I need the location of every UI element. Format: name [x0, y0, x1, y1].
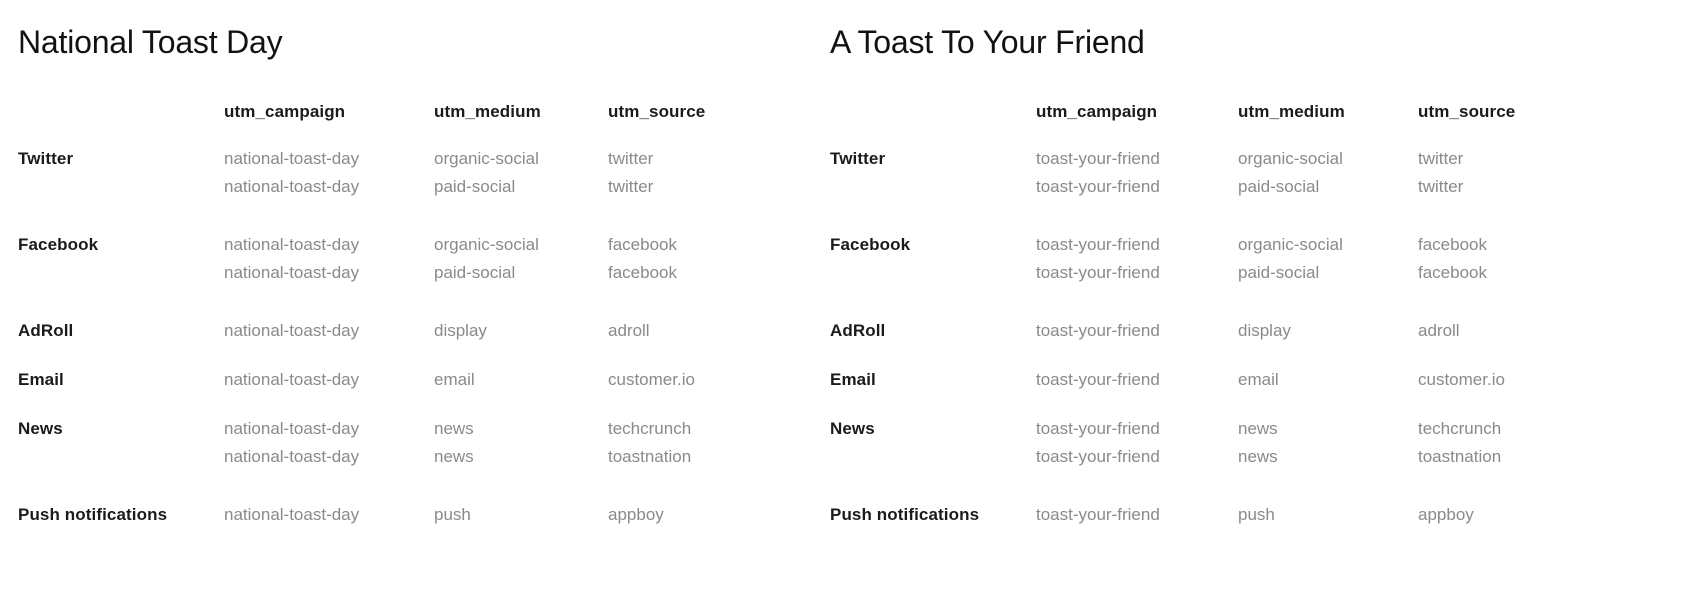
column-header-utm-campaign: utm_campaign: [1036, 98, 1238, 145]
page-title: National Toast Day: [18, 22, 815, 62]
cell-value-text: national-toast-day: [224, 231, 434, 259]
cell-source: twittertwitter: [1418, 145, 1618, 231]
cell-value-text: toast-your-friend: [1036, 366, 1238, 394]
cell-value-text: toastnation: [1418, 443, 1618, 471]
column-header-utm-source: utm_source: [608, 98, 808, 145]
row-label-text: News: [18, 415, 224, 443]
cell-value-text: news: [434, 443, 608, 471]
cell-value-text: national-toast-day: [224, 366, 434, 394]
cell-source: adroll: [608, 317, 808, 366]
column-header-channel: [18, 98, 224, 145]
cell-source: appboy: [608, 501, 808, 529]
cell-campaign: toast-your-friendtoast-your-friend: [1036, 231, 1238, 317]
cell-value-text: twitter: [1418, 145, 1618, 173]
cell-value-text: national-toast-day: [224, 173, 434, 201]
cell-value-text: toast-your-friend: [1036, 501, 1238, 529]
table-row: Twittertoast-your-friendtoast-your-frien…: [830, 145, 1618, 231]
column-header-utm-medium: utm_medium: [1238, 98, 1418, 145]
row-label-twitter: Twitter: [18, 145, 224, 231]
table-row: Push notificationsnational-toast-daypush…: [18, 501, 808, 529]
cell-campaign: toast-your-friend: [1036, 366, 1238, 415]
row-label-adroll: AdRoll: [830, 317, 1036, 366]
cell-value-text: national-toast-day: [224, 145, 434, 173]
table-row: Twitternational-toast-daynational-toast-…: [18, 145, 808, 231]
row-label-text: Push notifications: [18, 501, 224, 529]
cell-value-text: national-toast-day: [224, 317, 434, 345]
cell-medium: email: [434, 366, 608, 415]
cell-value-text: display: [434, 317, 608, 345]
cell-source: facebookfacebook: [1418, 231, 1618, 317]
row-label-text: Twitter: [18, 145, 224, 173]
cell-value-text: customer.io: [608, 366, 808, 394]
cell-value-text: twitter: [608, 173, 808, 201]
cell-campaign: toast-your-friendtoast-your-friend: [1036, 415, 1238, 501]
cell-value-text: facebook: [1418, 231, 1618, 259]
cell-value-text: national-toast-day: [224, 415, 434, 443]
table-row: Emailnational-toast-dayemailcustomer.io: [18, 366, 808, 415]
table-header-row: utm_campaign utm_medium utm_source: [830, 98, 1618, 145]
cell-medium: organic-socialpaid-social: [434, 231, 608, 317]
row-label-facebook: Facebook: [830, 231, 1036, 317]
cell-medium: display: [1238, 317, 1418, 366]
row-label-text: Email: [830, 366, 1036, 394]
cell-value-text: news: [1238, 443, 1418, 471]
cell-medium: organic-socialpaid-social: [434, 145, 608, 231]
cell-value-text: toast-your-friend: [1036, 443, 1238, 471]
cell-value-text: twitter: [608, 145, 808, 173]
cell-campaign: toast-your-friend: [1036, 317, 1238, 366]
cell-medium: display: [434, 317, 608, 366]
cell-value-text: adroll: [608, 317, 808, 345]
cell-campaign: national-toast-day: [224, 501, 434, 529]
row-label-twitter: Twitter: [830, 145, 1036, 231]
cell-source: twittertwitter: [608, 145, 808, 231]
cell-value-text: push: [1238, 501, 1418, 529]
cell-value-text: toast-your-friend: [1036, 145, 1238, 173]
cell-value-text: appboy: [608, 501, 808, 529]
row-label-push-notifications: Push notifications: [18, 501, 224, 529]
cell-value-text: facebook: [608, 259, 808, 287]
column-header-utm-campaign: utm_campaign: [224, 98, 434, 145]
row-label-text: Facebook: [18, 231, 224, 259]
utm-table-right: utm_campaign utm_medium utm_source Twitt…: [830, 98, 1618, 529]
column-header-channel: [830, 98, 1036, 145]
cell-value-text: paid-social: [434, 173, 608, 201]
cell-medium: newsnews: [434, 415, 608, 501]
cell-value-text: organic-social: [434, 145, 608, 173]
cell-value-text: toast-your-friend: [1036, 173, 1238, 201]
table-row: AdRolltoast-your-frienddisplayadroll: [830, 317, 1618, 366]
table-row: Push notificationstoast-your-friendpusha…: [830, 501, 1618, 529]
panel-national-toast-day: National Toast Day utm_campaign utm_medi…: [0, 0, 815, 598]
table-row: Newstoast-your-friendtoast-your-friendne…: [830, 415, 1618, 501]
cell-source: facebookfacebook: [608, 231, 808, 317]
cell-value-text: techcrunch: [1418, 415, 1618, 443]
cell-value-text: email: [434, 366, 608, 394]
cell-medium: push: [1238, 501, 1418, 529]
cell-value-text: toast-your-friend: [1036, 415, 1238, 443]
cell-medium: organic-socialpaid-social: [1238, 145, 1418, 231]
cell-value-text: customer.io: [1418, 366, 1618, 394]
cell-campaign: national-toast-daynational-toast-day: [224, 145, 434, 231]
cell-source: appboy: [1418, 501, 1618, 529]
cell-campaign: toast-your-friend: [1036, 501, 1238, 529]
cell-source: techcrunchtoastnation: [1418, 415, 1618, 501]
cell-value-text: paid-social: [434, 259, 608, 287]
cell-value-text: organic-social: [1238, 145, 1418, 173]
row-label-text: Push notifications: [830, 501, 1036, 529]
row-label-text: AdRoll: [18, 317, 224, 345]
cell-value-text: toastnation: [608, 443, 808, 471]
cell-source: customer.io: [1418, 366, 1618, 415]
row-label-email: Email: [18, 366, 224, 415]
utm-tables-board: National Toast Day utm_campaign utm_medi…: [0, 0, 1682, 598]
cell-medium: email: [1238, 366, 1418, 415]
cell-value-text: toast-your-friend: [1036, 259, 1238, 287]
table-header-row: utm_campaign utm_medium utm_source: [18, 98, 808, 145]
cell-value-text: facebook: [608, 231, 808, 259]
cell-source: techcrunchtoastnation: [608, 415, 808, 501]
table-body: Twittertoast-your-friendtoast-your-frien…: [830, 145, 1618, 529]
cell-value-text: techcrunch: [608, 415, 808, 443]
cell-campaign: national-toast-day: [224, 317, 434, 366]
row-label-text: News: [830, 415, 1036, 443]
cell-campaign: national-toast-daynational-toast-day: [224, 415, 434, 501]
cell-value-text: facebook: [1418, 259, 1618, 287]
row-label-text: AdRoll: [830, 317, 1036, 345]
cell-value-text: toast-your-friend: [1036, 317, 1238, 345]
table-header: utm_campaign utm_medium utm_source: [830, 98, 1618, 145]
cell-value-text: push: [434, 501, 608, 529]
row-label-text: Facebook: [830, 231, 1036, 259]
table-row: AdRollnational-toast-daydisplayadroll: [18, 317, 808, 366]
column-header-utm-medium: utm_medium: [434, 98, 608, 145]
cell-value-text: organic-social: [434, 231, 608, 259]
cell-value-text: national-toast-day: [224, 501, 434, 529]
row-label-news: News: [18, 415, 224, 501]
page-title: A Toast To Your Friend: [830, 22, 1682, 62]
row-label-push-notifications: Push notifications: [830, 501, 1036, 529]
row-label-adroll: AdRoll: [18, 317, 224, 366]
row-label-facebook: Facebook: [18, 231, 224, 317]
row-label-email: Email: [830, 366, 1036, 415]
table-row: Facebooknational-toast-daynational-toast…: [18, 231, 808, 317]
cell-medium: organic-socialpaid-social: [1238, 231, 1418, 317]
table-row: Newsnational-toast-daynational-toast-day…: [18, 415, 808, 501]
cell-value-text: organic-social: [1238, 231, 1418, 259]
cell-value-text: toast-your-friend: [1036, 231, 1238, 259]
cell-value-text: adroll: [1418, 317, 1618, 345]
table-row: Emailtoast-your-friendemailcustomer.io: [830, 366, 1618, 415]
cell-value-text: national-toast-day: [224, 259, 434, 287]
cell-medium: newsnews: [1238, 415, 1418, 501]
utm-table-left: utm_campaign utm_medium utm_source Twitt…: [18, 98, 808, 529]
cell-value-text: news: [1238, 415, 1418, 443]
cell-campaign: toast-your-friendtoast-your-friend: [1036, 145, 1238, 231]
row-label-text: Twitter: [830, 145, 1036, 173]
cell-source: customer.io: [608, 366, 808, 415]
table-header: utm_campaign utm_medium utm_source: [18, 98, 808, 145]
panel-a-toast-to-your-friend: A Toast To Your Friend utm_campaign utm_…: [815, 0, 1682, 598]
cell-source: adroll: [1418, 317, 1618, 366]
cell-value-text: paid-social: [1238, 173, 1418, 201]
cell-value-text: news: [434, 415, 608, 443]
row-label-news: News: [830, 415, 1036, 501]
cell-value-text: paid-social: [1238, 259, 1418, 287]
column-header-utm-source: utm_source: [1418, 98, 1618, 145]
cell-value-text: display: [1238, 317, 1418, 345]
cell-value-text: national-toast-day: [224, 443, 434, 471]
cell-medium: push: [434, 501, 608, 529]
table-row: Facebooktoast-your-friendtoast-your-frie…: [830, 231, 1618, 317]
cell-value-text: appboy: [1418, 501, 1618, 529]
cell-campaign: national-toast-day: [224, 366, 434, 415]
cell-value-text: email: [1238, 366, 1418, 394]
table-body: Twitternational-toast-daynational-toast-…: [18, 145, 808, 529]
row-label-text: Email: [18, 366, 224, 394]
cell-value-text: twitter: [1418, 173, 1618, 201]
cell-campaign: national-toast-daynational-toast-day: [224, 231, 434, 317]
